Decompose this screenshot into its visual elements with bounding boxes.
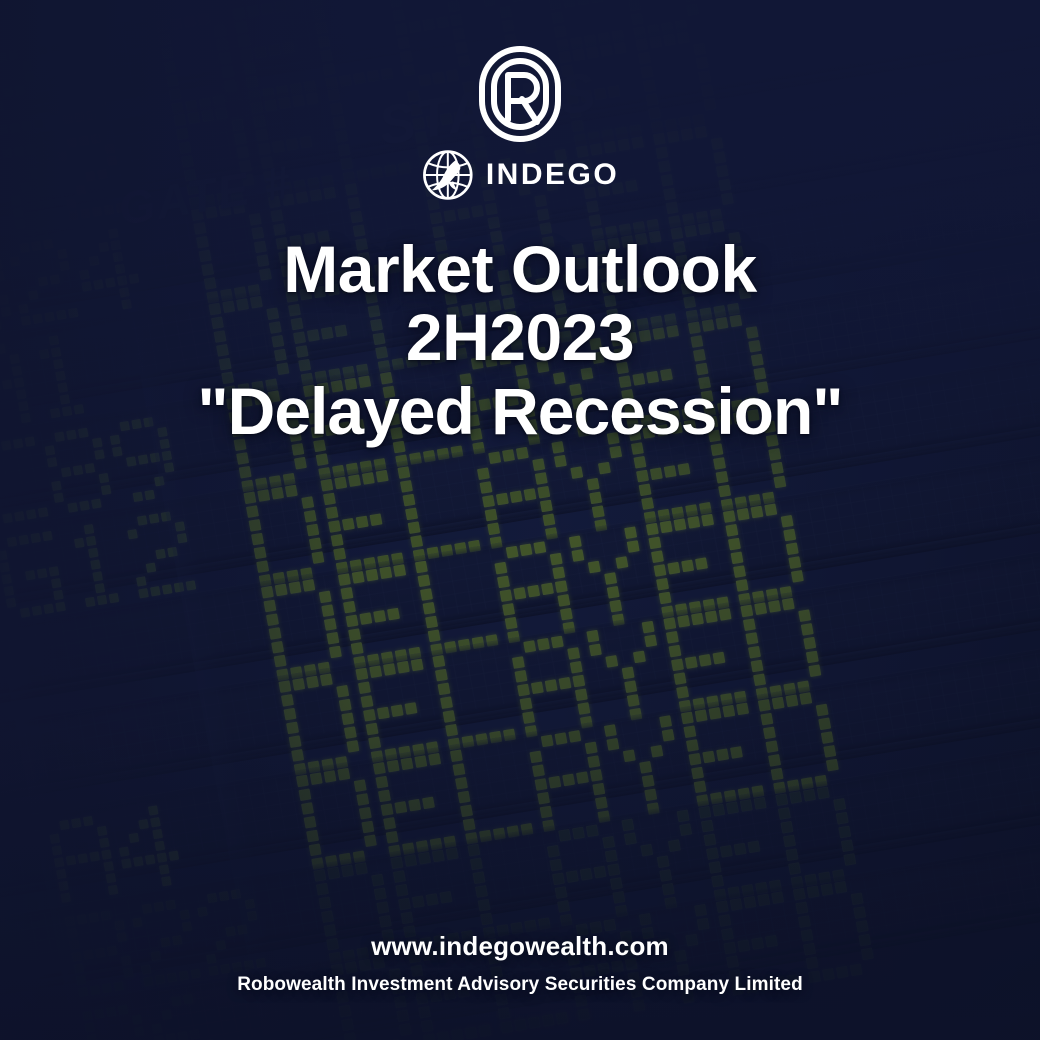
title-line-2: 2H2023	[24, 304, 1016, 372]
indego-globe-icon	[421, 148, 475, 202]
company-name: Robowealth Investment Advisory Securitie…	[0, 974, 1040, 996]
title-line-1: Market Outlook	[24, 236, 1016, 304]
robowealth-r-logo-icon	[477, 44, 563, 144]
poster-canvas: GATE # STATUS INDEGO	[0, 0, 1040, 1040]
poster-footer: www.indegowealth.com Robowealth Investme…	[0, 931, 1040, 996]
website-url[interactable]: www.indegowealth.com	[0, 931, 1040, 962]
foreground-content: INDEGO Market Outlook 2H2023 "Delayed Re…	[0, 0, 1040, 1040]
indego-brand-name: INDEGO	[486, 158, 619, 192]
poster-title: Market Outlook 2H2023 "Delayed Recession…	[0, 236, 1040, 446]
title-line-3: "Delayed Recession"	[24, 378, 1016, 446]
indego-brand-lockup: INDEGO	[421, 148, 619, 202]
